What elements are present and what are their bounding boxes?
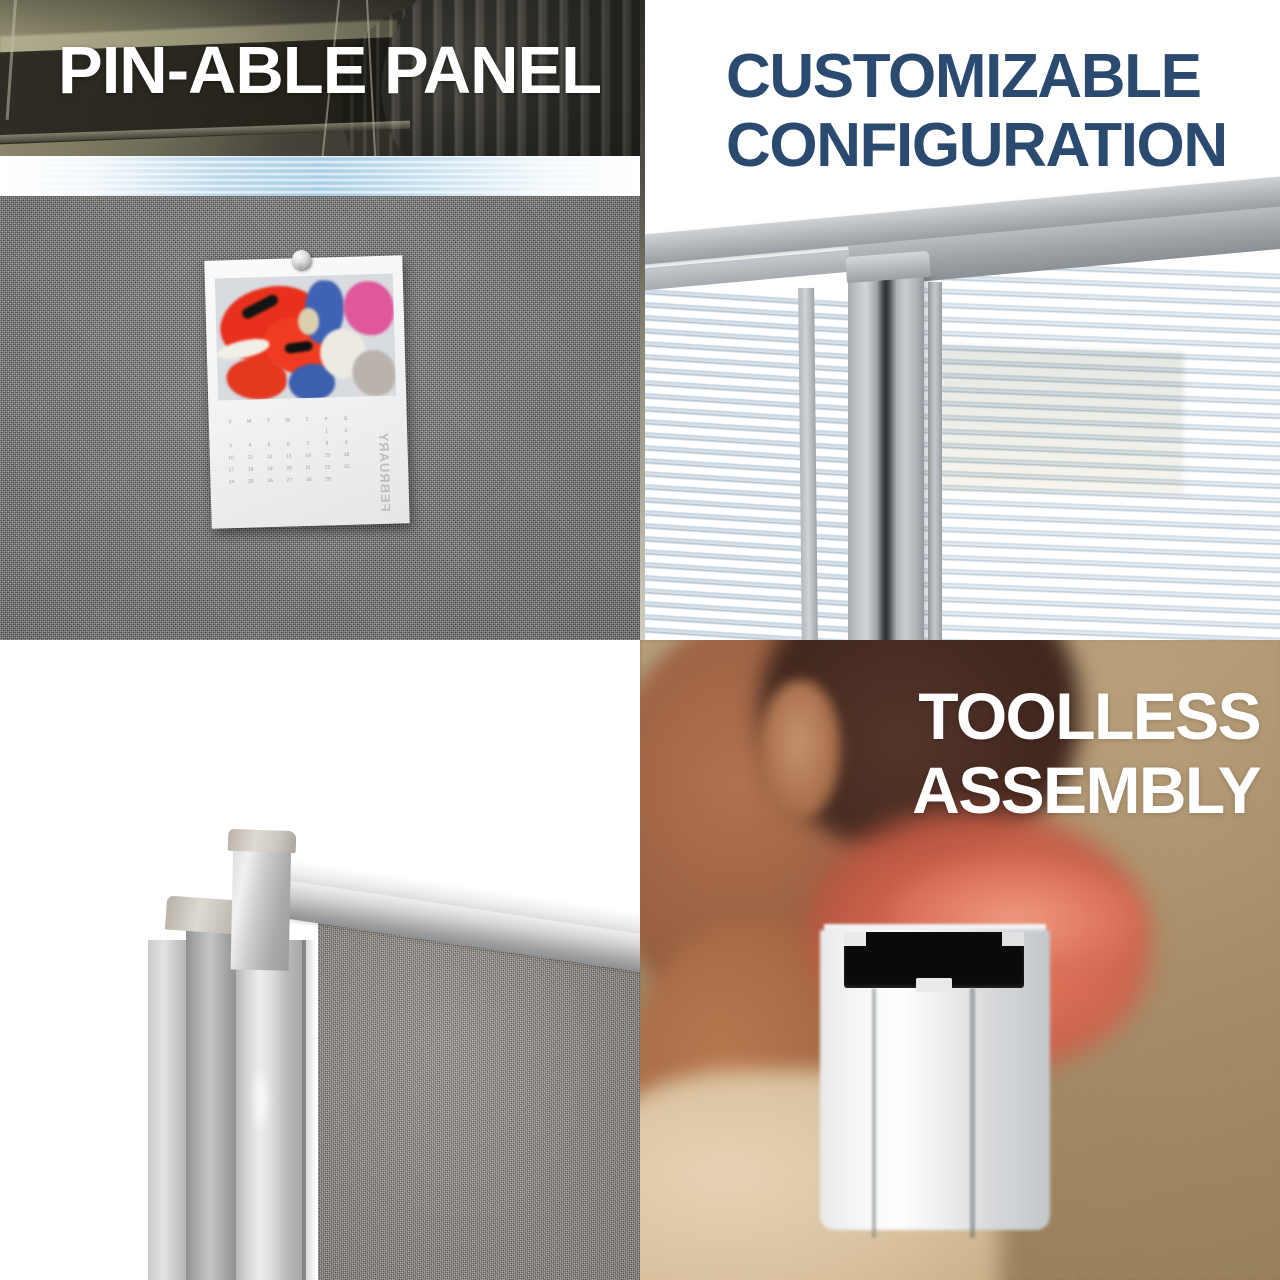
calendar-weekday: F	[317, 415, 336, 425]
calendar-day: 2	[337, 427, 356, 437]
calendar-artwork	[215, 274, 396, 401]
calendar-day: 17	[222, 466, 241, 476]
calendar-weekday: W	[279, 416, 298, 426]
calendar-day: 19	[261, 465, 280, 475]
frame-post-edge-shadow	[302, 940, 316, 1280]
calendar-day	[338, 475, 357, 485]
person-ear-blur	[758, 680, 840, 820]
calendar-day: 4	[241, 441, 260, 451]
ceiling-photo	[0, 0, 640, 158]
calendar-day: 18	[241, 465, 260, 475]
glass-band	[0, 156, 640, 198]
pinned-calendar-sheet: S M T W T F S 1 2 3 4 5	[204, 255, 409, 528]
calendar-day: 1	[317, 427, 336, 437]
panel-fabric-infill	[318, 918, 640, 1280]
window-blinds-right	[908, 257, 1280, 640]
art-blob-red-3	[226, 357, 288, 400]
calendar-day: 6	[279, 440, 298, 450]
calendar-day: 7	[298, 440, 317, 450]
calendar-day: 23	[338, 463, 357, 473]
calendar-day: 16	[337, 451, 356, 461]
calendar-month-label: FEBRUARY	[376, 432, 393, 512]
calendar-day	[260, 429, 279, 439]
calendar-day: 3	[221, 442, 240, 452]
calendar-weekday: T	[298, 416, 317, 426]
toolless-assembly-photo	[640, 640, 1280, 1280]
push-pin-icon	[292, 250, 311, 269]
calendar-day: 11	[241, 453, 260, 463]
extrusion-channel-notch-left	[844, 932, 866, 946]
calendar-weekday: S	[221, 418, 240, 428]
calendar-day: 21	[299, 464, 318, 474]
calendar-day: 26	[261, 477, 280, 487]
calendar-day	[298, 428, 317, 438]
calendar-day: 10	[222, 454, 241, 464]
calendar-day	[221, 430, 240, 440]
calendar-weekday: T	[259, 417, 278, 427]
feature-collage: S M T W T F S 1 2 3 4 5	[0, 0, 1280, 1280]
calendar-day: 15	[318, 451, 337, 461]
calendar-grid-area: S M T W T F S 1 2 3 4 5	[221, 408, 396, 519]
panel-pin-able: S M T W T F S 1 2 3 4 5	[0, 0, 640, 640]
extrusion-channel-foot	[916, 978, 952, 992]
art-blob-tan	[298, 307, 320, 334]
calendar-day: 14	[299, 452, 318, 462]
calendar-day: 27	[280, 476, 299, 486]
extrusion-groove-left	[872, 988, 876, 1238]
calendar-weekday: M	[240, 417, 259, 427]
calendar-day: 29	[319, 475, 338, 485]
calendar-day: 20	[280, 464, 299, 474]
panel-aluminum-frame: LIGHT AIRCRAFT ALUMINUM FRAME	[0, 640, 640, 1280]
frame-corner-bracket-top	[228, 829, 297, 853]
calendar-day	[240, 429, 259, 439]
frame-corner-bracket	[231, 833, 292, 970]
calendar-day: 8	[318, 439, 337, 449]
calendar-day: 9	[337, 439, 356, 449]
calendar-day: 25	[242, 477, 261, 487]
calendar-day: 22	[318, 463, 337, 473]
photo-left-edge-sliver	[640, 0, 645, 640]
glass-partition-photo	[640, 0, 1280, 640]
calendar-day	[279, 428, 298, 438]
panel-customizable-configuration: CUSTOMIZABLE CONFIGURATION	[640, 0, 1280, 640]
calendar-day: 13	[280, 452, 299, 462]
extrusion-channel-notch-right	[1002, 932, 1024, 946]
calendar-day: 12	[260, 453, 279, 463]
calendar-day: 24	[222, 478, 241, 488]
frame-specular-highlight	[252, 1070, 270, 1130]
extrusion-groove-right	[970, 988, 975, 1238]
panel-toolless-assembly: TOOLLESS ASSEMBLY	[640, 640, 1280, 1280]
calendar-day: 5	[260, 441, 279, 451]
calendar-day: 28	[299, 476, 318, 486]
aluminum-frame-corner-photo	[0, 640, 640, 1280]
calendar-grid: S M T W T F S 1 2 3 4 5	[221, 415, 357, 488]
calendar-weekday: S	[336, 415, 355, 425]
art-blob-pink	[343, 281, 394, 336]
frame-post-middle-cap	[165, 895, 241, 934]
frame-connector-post	[848, 272, 924, 640]
frame-post-front	[236, 940, 306, 1280]
art-blob-gray	[352, 349, 396, 397]
